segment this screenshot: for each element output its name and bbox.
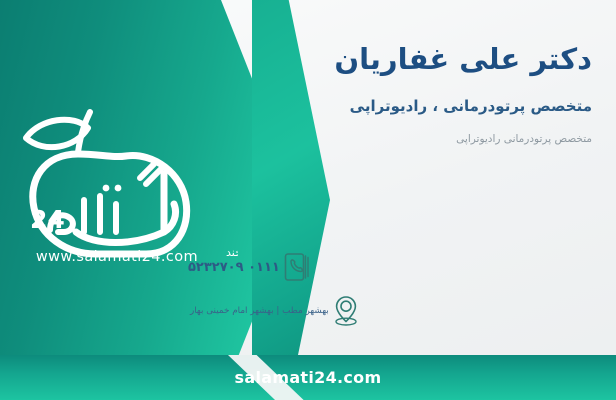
footer-website: salamati24.com	[0, 368, 616, 387]
phone-row: ۰۱۱۱ ۵۲۳۲۷۰۹	[178, 248, 598, 286]
footer-bar: salamati24.com	[0, 355, 616, 400]
business-card: 24 براحتی یک لبخند www.salamati24.com دک…	[0, 0, 616, 400]
location-pin-icon	[329, 292, 363, 330]
phone-number: ۰۱۱۱ ۵۲۳۲۷۰۹	[178, 260, 280, 275]
doctor-specialty-secondary: متخصص پرتودرمانی رادیوتراپی	[172, 133, 592, 145]
doctor-specialty: متخصص پرتودرمانی ، رادیوتراپی	[172, 97, 592, 115]
doctor-name: دکتر علی غفاریان	[172, 42, 592, 76]
address-row: بهشهر مطب | بهشهر امام خمینی بهار	[178, 292, 598, 330]
address-text: بهشهر مطب | بهشهر امام خمینی بهار	[178, 306, 329, 316]
logo-24-text: 24	[30, 205, 65, 234]
phone-book-icon	[280, 248, 314, 286]
